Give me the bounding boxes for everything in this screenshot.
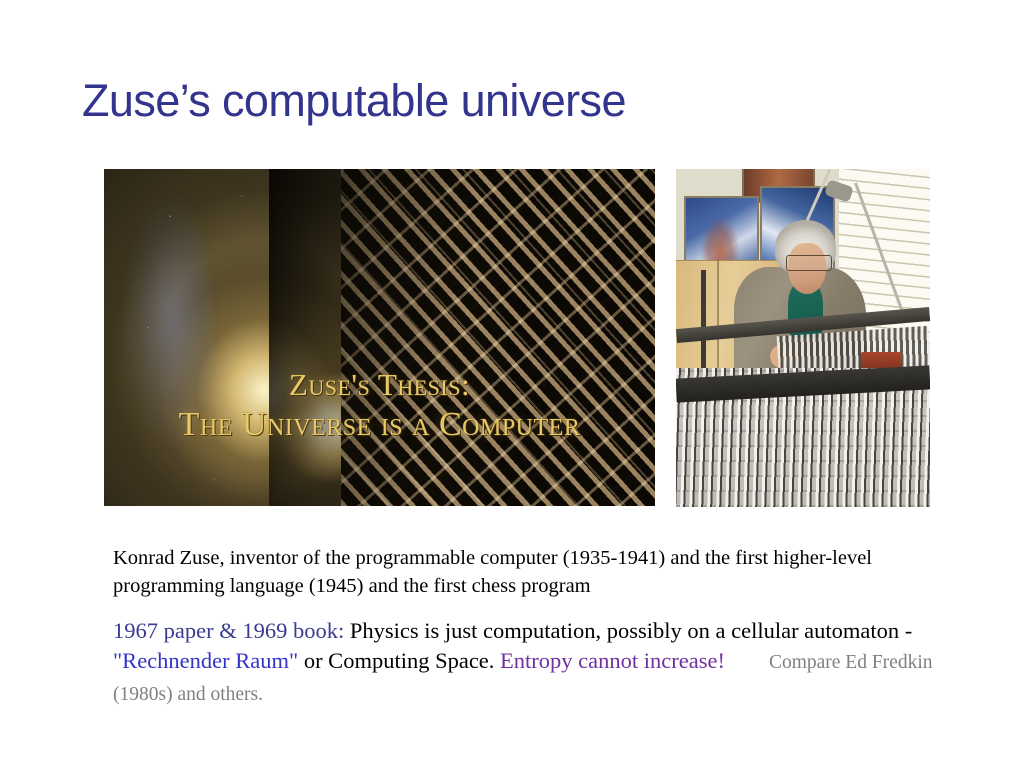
galaxy-circuit-blend xyxy=(269,169,655,506)
paper-book-reference: 1967 paper & 1969 book: xyxy=(113,618,344,643)
rechnender-raum-term: "Rechnender Raum" xyxy=(113,648,298,673)
slide-body: Konrad Zuse, inventor of the programmabl… xyxy=(113,544,933,710)
photo-grain xyxy=(676,169,930,507)
thesis-caption-line1: Zuse's Thesis: xyxy=(104,366,655,404)
galaxy-computer-image: Zuse's Thesis: The Universe is a Compute… xyxy=(104,169,655,506)
thesis-caption-line2: The Universe is a Computer xyxy=(104,404,655,446)
physics-computation-text: Physics is just computation, possibly on… xyxy=(344,618,912,643)
entropy-statement: Entropy cannot increase! xyxy=(500,648,725,673)
thesis-caption: Zuse's Thesis: The Universe is a Compute… xyxy=(104,366,655,446)
zuse-thesis-paragraph: 1967 paper & 1969 book: Physics is just … xyxy=(113,616,933,710)
konrad-zuse-photo xyxy=(676,169,930,507)
page-title: Zuse’s computable universe xyxy=(82,75,942,127)
zuse-biography-paragraph: Konrad Zuse, inventor of the programmabl… xyxy=(113,544,933,600)
computing-space-text: or Computing Space. xyxy=(298,648,500,673)
